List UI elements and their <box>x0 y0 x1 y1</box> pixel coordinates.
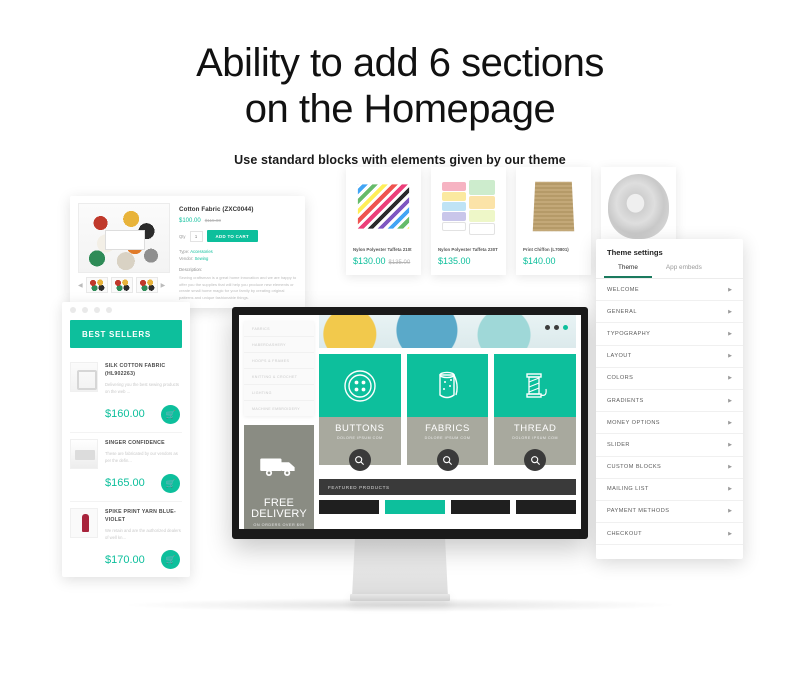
theme-settings-title: Theme settings <box>596 239 743 257</box>
chevron-right-icon[interactable]: ▶ <box>728 531 732 537</box>
product-price: $100.00 <box>179 218 201 224</box>
dot-icon <box>106 307 112 313</box>
best-sellers-list: SILK COTTON FABRIC (HL902263) Delivering… <box>62 348 190 577</box>
monitor-mockup: FABRICS HABERDASHERY HOOPS & FRAMES KNIT… <box>232 307 588 539</box>
featured-product-slot[interactable] <box>319 500 379 514</box>
sidebar-item-lighting[interactable]: LIGHTING <box>244 385 314 401</box>
slider-dot-active-icon[interactable] <box>563 325 568 330</box>
description-text: Sewing craftsman is a great home innovat… <box>179 275 297 301</box>
chevron-right-icon[interactable]: ▶ <box>728 464 732 470</box>
best-sellers-header: BEST SELLERS <box>70 320 182 348</box>
settings-row-typography[interactable]: TYPOGRAPHY ▶ <box>596 323 743 345</box>
chevron-right-icon[interactable]: ▶ <box>728 442 732 448</box>
settings-row-label: TYPOGRAPHY <box>607 331 650 337</box>
card-topbar <box>62 302 190 318</box>
quantity-label: Qty <box>179 234 186 239</box>
chevron-right-icon[interactable]: ▶ <box>728 398 732 404</box>
product-tile-caption: Print Chiffon (L70801) <box>523 247 584 252</box>
product-tile-price: $135.00 <box>438 256 471 266</box>
product-image-label <box>105 230 145 250</box>
settings-row-checkout[interactable]: CHECKOUT ▶ <box>596 523 743 545</box>
settings-row-custom-blocks[interactable]: CUSTOM BLOCKS ▶ <box>596 457 743 479</box>
add-to-cart-button[interactable]: ADD TO CART <box>207 230 258 242</box>
category-card-fabrics[interactable]: FABRICS DOLORE IPSUM COM <box>407 354 489 465</box>
product-thumbnail[interactable] <box>136 277 158 293</box>
item-price: $165.00 <box>105 477 145 489</box>
product-image-burlap-ribbon <box>523 174 584 239</box>
list-item[interactable]: SPIKE PRINT YARN BLUE-VIOLET We retain a… <box>70 502 182 578</box>
product-thumbnail[interactable] <box>111 277 133 293</box>
settings-row-colors[interactable]: COLORS ▶ <box>596 368 743 390</box>
product-tile-price: $130.00 <box>353 256 386 266</box>
item-price: $170.00 <box>105 554 145 566</box>
heading-block: Ability to add 6 sections on the Homepag… <box>0 40 800 133</box>
chevron-right-icon[interactable]: ▶ <box>728 309 732 315</box>
category-subtitle: DOLORE IPSUM COM <box>494 436 576 440</box>
product-tile-caption: Nylon Polyester Taffeta 210t <box>353 247 414 252</box>
sidebar-item-haberdashery[interactable]: HABERDASHERY <box>244 337 314 353</box>
product-meta-vendor: Vendor: Sewing <box>179 256 297 261</box>
heading-line-1: Ability to add 6 sections <box>0 40 800 86</box>
category-subtitle: DOLORE IPSUM COM <box>407 436 489 440</box>
settings-row-gradients[interactable]: GRADIENTS ▶ <box>596 390 743 412</box>
chevron-right-icon[interactable]: ▶ <box>728 375 732 381</box>
prev-arrow-icon[interactable]: ◀ <box>78 282 83 289</box>
sidebar-item-knitting-crochet[interactable]: KNITTING & CROCHET <box>244 369 314 385</box>
product-image-washi-tape <box>438 174 499 239</box>
settings-row-label: CHECKOUT <box>607 531 642 537</box>
storefront-nav: FABRICS HABERDASHERY HOOPS & FRAMES KNIT… <box>244 321 314 416</box>
search-icon[interactable] <box>437 449 459 471</box>
category-subtitle: DOLORE IPSUM COM <box>319 436 401 440</box>
product-buy-row: Qty 1 ADD TO CART <box>179 230 297 242</box>
featured-product-slot[interactable] <box>451 500 511 514</box>
category-name: BUTTONS <box>319 423 401 434</box>
settings-row-mailing-list[interactable]: MAILING LIST ▶ <box>596 479 743 501</box>
settings-row-label: COLORS <box>607 375 633 381</box>
magnifier-glyph <box>354 455 365 466</box>
chevron-right-icon[interactable]: ▶ <box>728 287 732 293</box>
item-description: We retain and are the authorized dealers… <box>105 527 182 542</box>
item-price: $160.00 <box>105 408 145 420</box>
tab-theme[interactable]: Theme <box>604 264 652 278</box>
settings-row-label: LAYOUT <box>607 353 632 359</box>
item-thumbnail <box>70 508 98 538</box>
search-icon[interactable] <box>349 449 371 471</box>
product-meta: Type: Accessories Vendor: Sewing <box>179 249 297 261</box>
slide-canvas: Ability to add 6 sections on the Homepag… <box>0 0 800 674</box>
settings-row-label: WELCOME <box>607 287 639 293</box>
page-title: Ability to add 6 sections on the Homepag… <box>0 40 800 167</box>
fabric-roll-icon <box>431 369 465 403</box>
product-thumbnail-strip[interactable]: ◀ ▶ <box>78 277 170 293</box>
item-title: SILK COTTON FABRIC (HL902263) <box>105 362 182 378</box>
search-icon[interactable] <box>524 449 546 471</box>
product-price-row: $100.00 $115.00 <box>179 218 297 224</box>
product-thumbnail[interactable] <box>86 277 108 293</box>
cart-icon[interactable]: 🛒 <box>161 550 180 569</box>
magnifier-glyph <box>442 455 453 466</box>
product-image-rainbow-fabric <box>353 174 414 239</box>
theme-settings-panel: Theme settings Theme App embeds WELCOME … <box>596 239 743 559</box>
hero-slider[interactable] <box>319 315 576 348</box>
settings-row-label: SLIDER <box>607 442 630 448</box>
slider-dot-icon[interactable] <box>545 325 550 330</box>
settings-row-label: CUSTOM BLOCKS <box>607 464 661 470</box>
magnifier-glyph <box>530 455 541 466</box>
item-thumbnail <box>70 362 98 392</box>
chevron-right-icon[interactable]: ▶ <box>728 353 732 359</box>
delivery-line-2: DELIVERY <box>251 509 307 520</box>
category-name: FABRICS <box>407 423 489 434</box>
monitor-base <box>350 594 450 601</box>
monitor-bezel: FABRICS HABERDASHERY HOOPS & FRAMES KNIT… <box>232 307 588 539</box>
button-icon <box>343 369 377 403</box>
featured-product-slot-active[interactable] <box>385 500 445 514</box>
heading-subtitle: Use standard blocks with elements given … <box>0 153 800 167</box>
monitor-stand <box>352 539 448 597</box>
product-image-fabric-roll <box>608 174 669 239</box>
settings-row-label: MONEY OPTIONS <box>607 420 660 426</box>
product-tile-price-old: $135.00 <box>389 260 411 266</box>
dot-icon <box>82 307 88 313</box>
settings-row-slider[interactable]: SLIDER ▶ <box>596 434 743 456</box>
best-sellers-card: BEST SELLERS SILK COTTON FABRIC (HL90226… <box>62 302 190 577</box>
theme-settings-tabs: Theme App embeds <box>596 264 743 279</box>
product-detail-card: ◀ ▶ Cotton Fabric (ZXC0044) $100.00 $115… <box>70 196 305 308</box>
settings-row-welcome[interactable]: WELCOME ▶ <box>596 279 743 301</box>
settings-row-label: GENERAL <box>607 309 637 315</box>
chevron-right-icon[interactable]: ▶ <box>728 508 732 514</box>
truck-icon <box>259 453 299 479</box>
chevron-right-icon[interactable]: ▶ <box>728 486 732 492</box>
chevron-right-icon[interactable]: ▶ <box>728 420 732 426</box>
slider-dots[interactable] <box>545 325 568 330</box>
chevron-right-icon[interactable]: ▶ <box>728 331 732 337</box>
category-row: BUTTONS DOLORE IPSUM COM <box>319 354 576 465</box>
sidebar-item-machine-embroidery[interactable]: MACHINE EMBROIDERY <box>244 401 314 416</box>
featured-products-row <box>319 500 576 514</box>
free-delivery-banner[interactable]: FREE DELIVERY ON ORDERS OVER $99 <box>244 425 314 529</box>
list-item[interactable]: SINGER CONFIDENCE These are fabricated b… <box>70 433 182 502</box>
item-title: SPIKE PRINT YARN BLUE-VIOLET <box>105 508 182 524</box>
product-price-old: $115.00 <box>205 218 221 223</box>
next-arrow-icon[interactable]: ▶ <box>161 282 166 289</box>
slider-dot-icon[interactable] <box>554 325 559 330</box>
settings-row-label: GRADIENTS <box>607 398 644 404</box>
product-gallery: ◀ ▶ <box>78 203 170 308</box>
thread-spool-icon <box>518 369 552 403</box>
featured-products-bar: FEATURED PRODUCTS <box>319 479 576 495</box>
featured-product-slot[interactable] <box>516 500 576 514</box>
item-description: Delivering you the best sewing products … <box>105 381 182 396</box>
item-description: These are fabricated by our vendors as p… <box>105 450 182 465</box>
product-title: Cotton Fabric (ZXC0044) <box>179 206 297 213</box>
product-tile[interactable]: Nylon Polyester Taffeta 230T $135.00 <box>431 167 506 275</box>
settings-row-layout[interactable]: LAYOUT ▶ <box>596 346 743 368</box>
tab-app-embeds[interactable]: App embeds <box>652 264 716 278</box>
product-main-image <box>78 203 170 273</box>
category-name: THREAD <box>494 423 576 434</box>
product-tile[interactable]: Print Chiffon (L70801) $140.00 <box>516 167 591 275</box>
settings-row-payment-methods[interactable]: PAYMENT METHODS ▶ <box>596 501 743 523</box>
category-card-thread[interactable]: THREAD DOLORE IPSUM COM <box>494 354 576 465</box>
product-tile[interactable]: Nylon Polyester Taffeta 210t $130.00 $13… <box>346 167 421 275</box>
cart-icon[interactable]: 🛒 <box>161 474 180 493</box>
delivery-line-3: ON ORDERS OVER $99 <box>253 523 304 527</box>
quantity-stepper[interactable]: 1 <box>190 231 203 242</box>
product-tile-caption: Nylon Polyester Taffeta 230T <box>438 247 499 252</box>
dot-icon <box>70 307 76 313</box>
product-tile-price: $140.00 <box>523 256 556 266</box>
category-card-buttons[interactable]: BUTTONS DOLORE IPSUM COM <box>319 354 401 465</box>
list-item[interactable]: SILK COTTON FABRIC (HL902263) Delivering… <box>70 356 182 433</box>
sidebar-item-hoops-frames[interactable]: HOOPS & FRAMES <box>244 353 314 369</box>
monitor-screen: FABRICS HABERDASHERY HOOPS & FRAMES KNIT… <box>239 315 581 529</box>
settings-row-label: PAYMENT METHODS <box>607 508 669 514</box>
heading-line-2: on the Homepage <box>0 86 800 132</box>
settings-row-general[interactable]: GENERAL ▶ <box>596 301 743 323</box>
product-meta-type: Type: Accessories <box>179 249 297 254</box>
item-thumbnail <box>70 439 98 469</box>
cart-icon[interactable]: 🛒 <box>161 405 180 424</box>
item-title: SINGER CONFIDENCE <box>105 439 182 447</box>
sidebar-item-fabrics[interactable]: FABRICS <box>244 321 314 337</box>
settings-row-money-options[interactable]: MONEY OPTIONS ▶ <box>596 412 743 434</box>
settings-row-label: MAILING LIST <box>607 486 649 492</box>
dot-icon <box>94 307 100 313</box>
storefront-sidebar: FABRICS HABERDASHERY HOOPS & FRAMES KNIT… <box>239 315 319 529</box>
description-heading: Description: <box>179 267 297 272</box>
